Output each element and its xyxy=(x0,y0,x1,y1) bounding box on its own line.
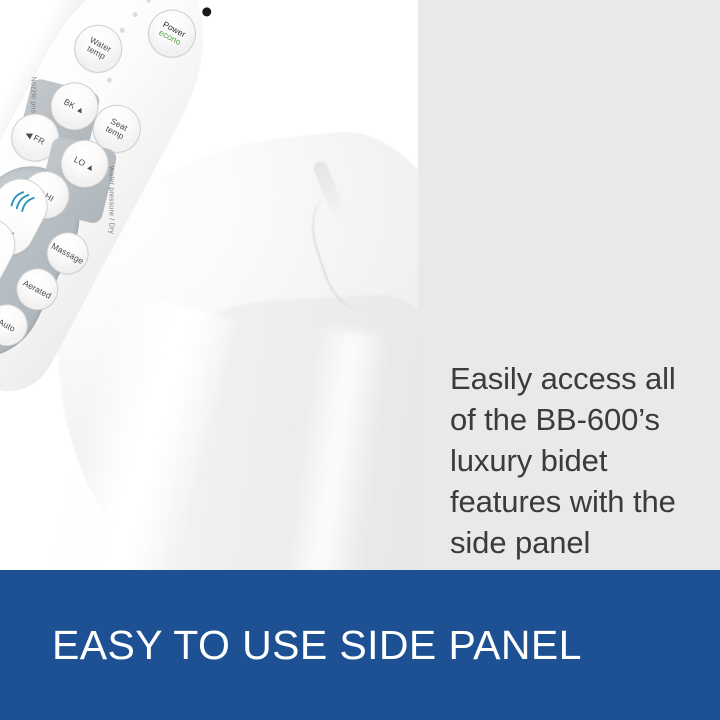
nozzle-bk-label: BK ▲ xyxy=(62,97,86,115)
pressure-lo-label: LO ▲ xyxy=(73,155,97,173)
aerated-label: Aerated xyxy=(22,278,53,300)
description-text: Easily access all of the BB-600’s luxury… xyxy=(450,358,708,563)
product-feature-card: Power econo Water temp Seat temp xyxy=(0,0,720,720)
water-pressure-group-label: Water pressure / Dry xyxy=(107,166,114,234)
massage-label: Massage xyxy=(50,241,85,265)
seat-temp-label: Seat temp xyxy=(104,117,129,141)
nozzle-fr-label: ◀ FR xyxy=(24,129,46,146)
power-led-icon xyxy=(201,6,213,18)
bottom-banner: EASY TO USE SIDE PANEL xyxy=(0,570,720,720)
water-temp-label: Water temp xyxy=(84,36,112,62)
banner-headline: EASY TO USE SIDE PANEL xyxy=(0,622,582,669)
product-photo: Power econo Water temp Seat temp xyxy=(0,0,418,570)
